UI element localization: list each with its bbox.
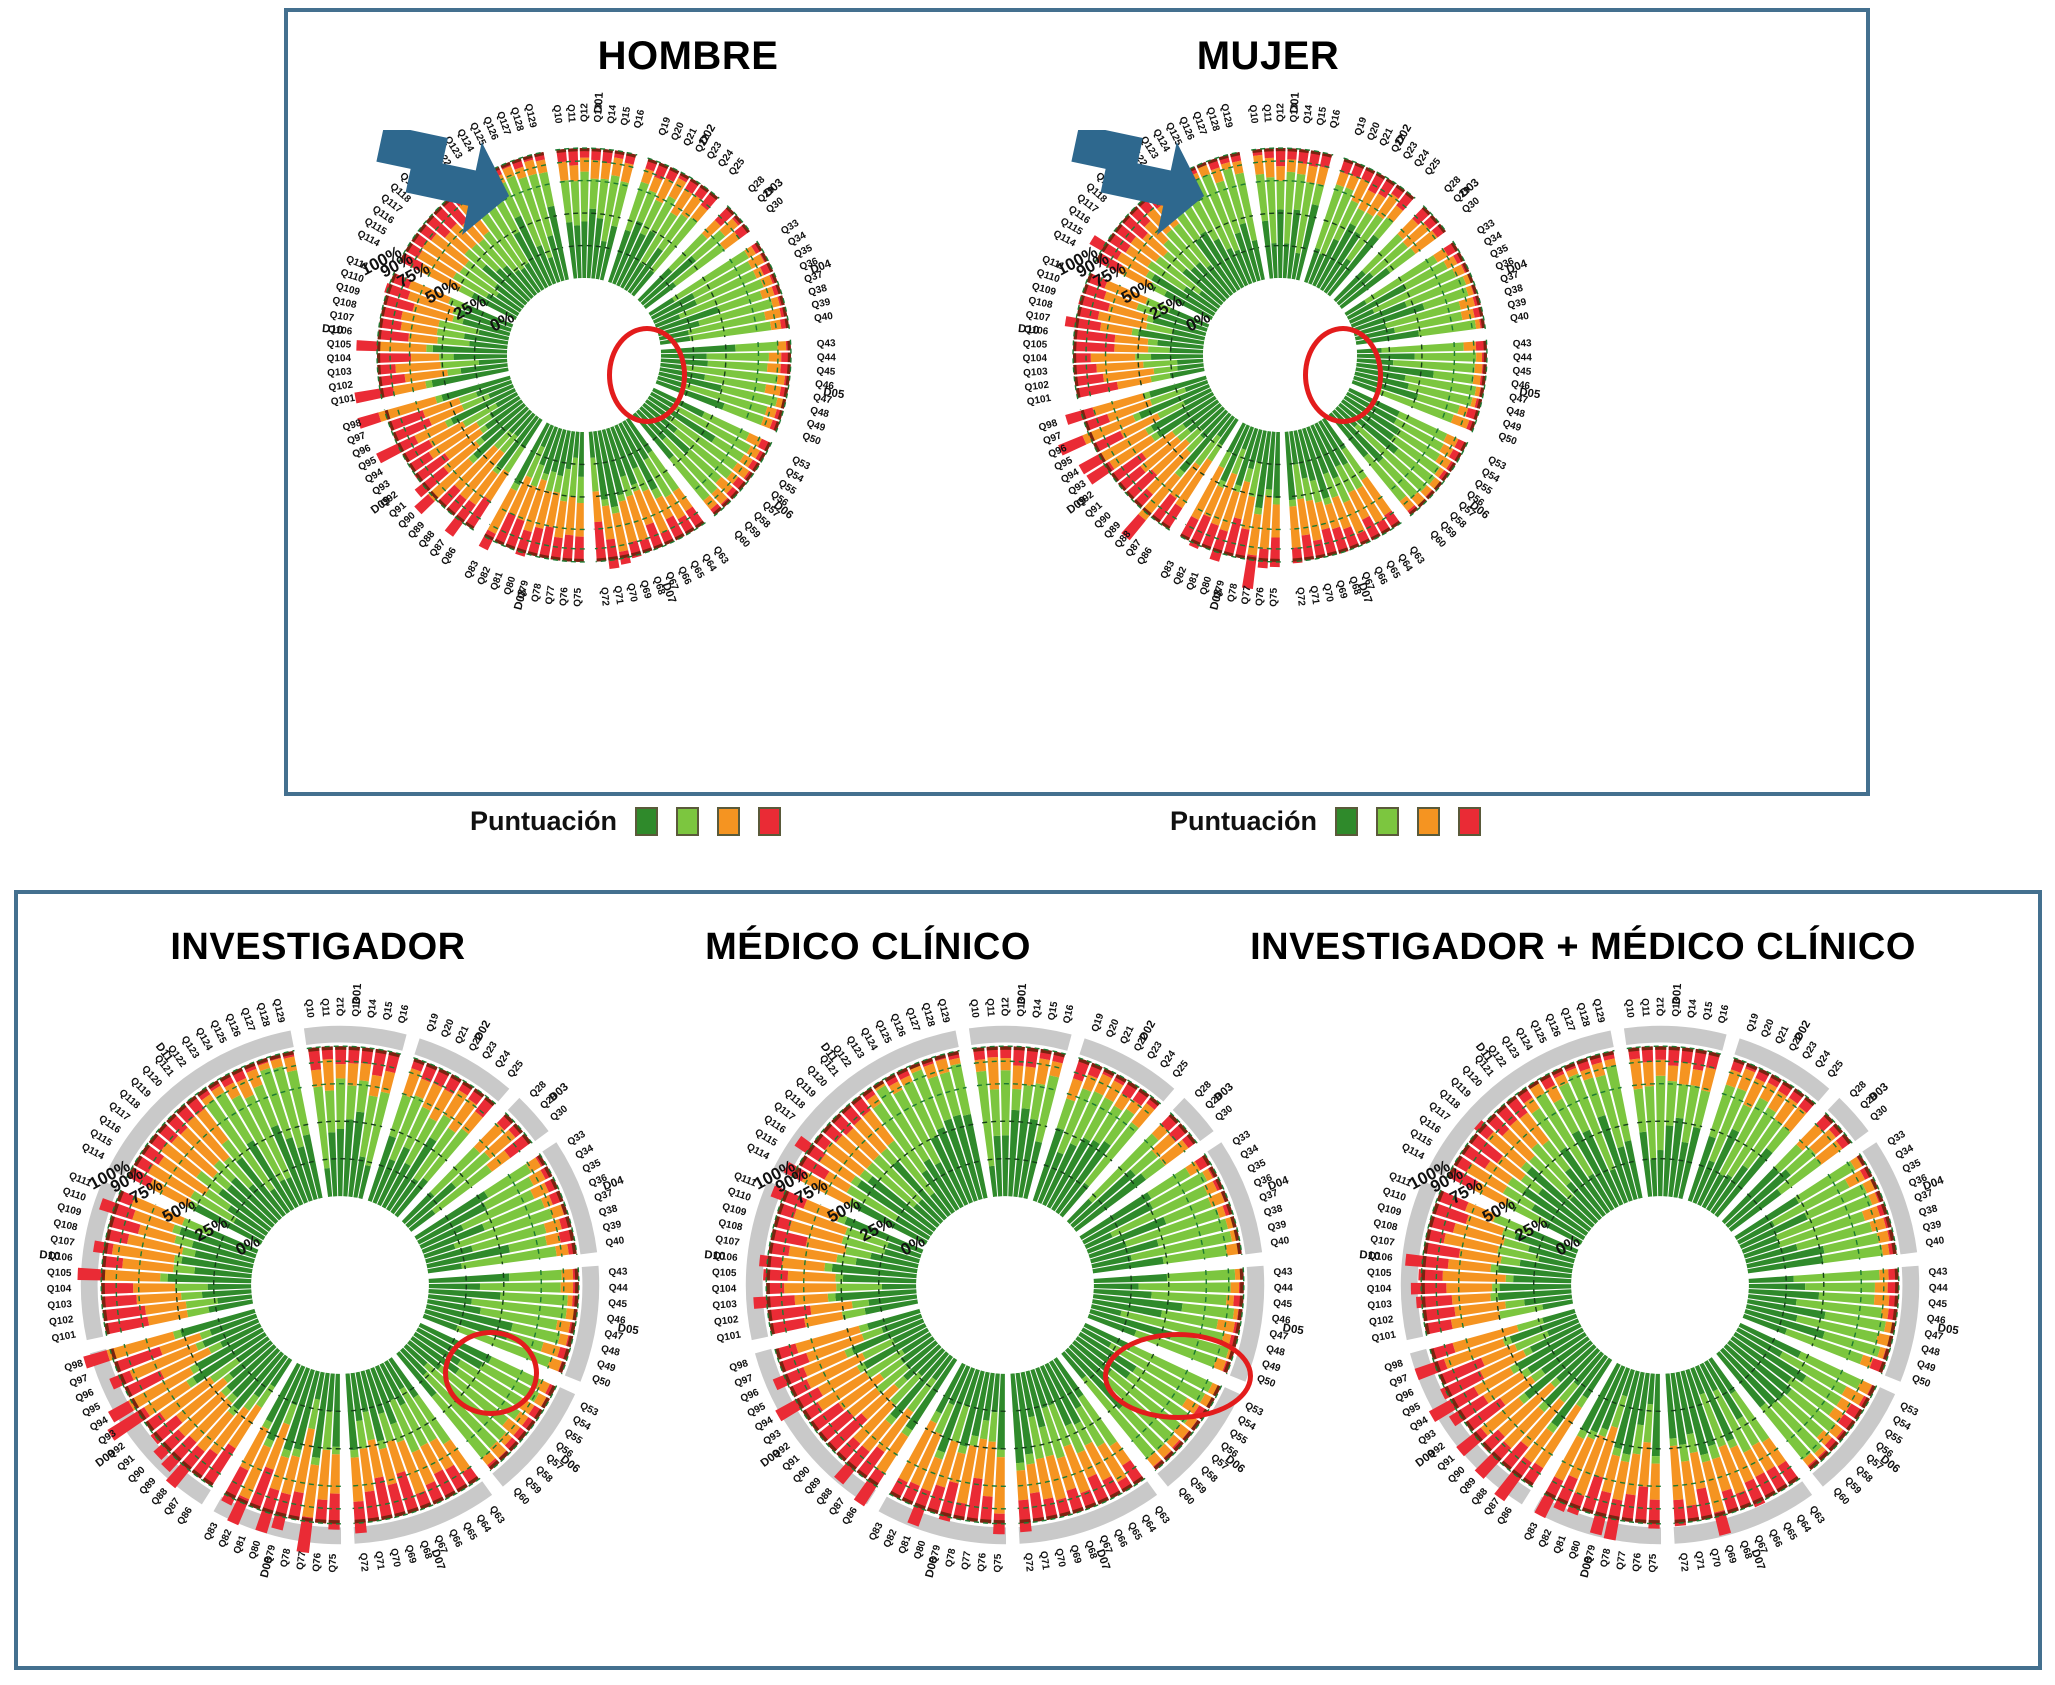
question-label: Q12 — [579, 103, 590, 122]
question-label: Q101 — [716, 1329, 743, 1344]
question-label: Q11 — [1261, 104, 1273, 123]
bar-segment — [560, 180, 572, 223]
question-label: Q40 — [1270, 1235, 1291, 1249]
bar-segment — [1002, 1135, 1009, 1196]
question-label: Q70 — [1321, 582, 1336, 603]
bar-segment — [580, 172, 589, 222]
question-label: Q72 — [1294, 587, 1307, 607]
bar-segment — [479, 530, 496, 551]
question-label: Q103 — [1023, 366, 1049, 379]
bar-segment — [601, 499, 609, 506]
legend-swatch-orange — [717, 807, 740, 836]
chart-center-hole — [251, 1196, 429, 1374]
question-label: Q101 — [1026, 393, 1053, 408]
bar-segment — [824, 1263, 832, 1272]
question-label: Q83 — [202, 1520, 221, 1542]
bar-segment — [377, 341, 426, 352]
chart-title-investigador: INVESTIGADOR — [38, 926, 598, 969]
red-ellipse-annotation-medico — [1103, 1332, 1253, 1420]
bar-segment — [1666, 1081, 1677, 1126]
bar-segment — [536, 159, 548, 173]
question-label: Q16 — [1328, 108, 1343, 129]
bar-segment — [509, 1270, 562, 1282]
chart-title-medico-clinico: MÉDICO CLÍNICO — [598, 926, 1138, 969]
question-label: Q43 — [1273, 1267, 1293, 1279]
question-label: Q72 — [1022, 1552, 1035, 1572]
question-label: Q97 — [1388, 1373, 1410, 1390]
bar-segment — [589, 178, 598, 209]
bar-segment — [735, 342, 778, 352]
question-label: Q39 — [1922, 1219, 1943, 1234]
bar-segment — [769, 353, 781, 362]
question-label: Q81 — [897, 1534, 914, 1556]
bar-segment — [1805, 1282, 1875, 1292]
bar-segment — [346, 1085, 357, 1119]
question-label: Q81 — [1552, 1534, 1569, 1556]
bar-segment — [353, 1501, 367, 1534]
bar-segment — [842, 1308, 866, 1319]
question-label: Q102 — [1024, 380, 1050, 394]
question-label: Q38 — [1263, 1203, 1285, 1219]
question-label: Q49 — [595, 1358, 617, 1374]
question-label: Q103 — [712, 1299, 738, 1312]
domain-label: D10 — [1017, 323, 1039, 337]
bar-segment — [311, 1457, 320, 1466]
bar-segment — [101, 1295, 137, 1308]
question-label: Q16 — [1061, 1003, 1076, 1024]
bar-segment — [1656, 1076, 1666, 1150]
question-label: Q69 — [1068, 1544, 1084, 1565]
bar-segment — [1265, 489, 1272, 496]
bar-segment — [1148, 339, 1158, 346]
question-label: Q76 — [558, 586, 571, 606]
chart-center-hole — [916, 1196, 1094, 1374]
question-label: Q50 — [1910, 1373, 1932, 1390]
question-label: Q11 — [1639, 998, 1651, 1017]
question-label: Q12 — [1275, 103, 1286, 122]
legend-swatch-dark-green — [1335, 807, 1358, 836]
circular-chart-investigador-medico[interactable]: Q10Q11Q12Q13Q14Q15Q16D01Q19Q20Q21Q22Q23Q… — [1360, 985, 1960, 1585]
bar-segment — [794, 1294, 828, 1305]
bar-segment — [1634, 1088, 1647, 1132]
question-label: Q110 — [1381, 1186, 1408, 1204]
question-label: Q77 — [544, 585, 558, 606]
bar-segment — [356, 340, 377, 351]
question-label: Q103 — [1367, 1299, 1393, 1312]
question-label: Q105 — [1367, 1267, 1392, 1279]
question-label: Q108 — [331, 295, 358, 311]
bar-segment — [425, 380, 433, 388]
bar-segment — [1621, 1453, 1631, 1462]
question-label: Q104 — [47, 1284, 72, 1295]
domain-label: D06 — [558, 1453, 582, 1475]
bar-segment — [1024, 1067, 1036, 1087]
question-label: Q35 — [1246, 1157, 1268, 1175]
bar-segment — [1875, 1282, 1888, 1293]
question-label: Q71 — [611, 585, 625, 606]
bar-segment — [175, 1284, 208, 1292]
circular-plot: Q10Q11Q12Q13Q14Q15Q16D01Q19Q20Q21Q22Q23Q… — [705, 985, 1305, 1585]
question-label: Q98 — [1383, 1358, 1405, 1374]
domain-label: D10 — [704, 1249, 726, 1263]
bar-segment — [330, 1454, 340, 1494]
question-label: Q86 — [1495, 1505, 1515, 1527]
question-label: Q39 — [1507, 297, 1528, 312]
question-label: Q75 — [572, 587, 583, 607]
question-label: Q70 — [625, 582, 640, 603]
question-label: Q43 — [1928, 1267, 1948, 1279]
bar-segment — [1651, 1456, 1659, 1464]
question-label: Q50 — [1497, 431, 1519, 448]
question-label: Q75 — [1648, 1553, 1659, 1573]
bar-segment — [788, 1271, 836, 1282]
question-label: Q77 — [960, 1550, 974, 1571]
bar-segment — [1148, 346, 1170, 353]
domain-label: D02 — [1137, 1019, 1158, 1043]
bar-segment — [325, 1090, 335, 1132]
domain-label: D01 — [1671, 982, 1684, 1004]
bar-segment — [408, 333, 438, 343]
bar-segment — [544, 1219, 562, 1233]
question-label: Q86 — [840, 1505, 860, 1527]
domain-label: D02 — [1792, 1019, 1813, 1043]
question-label: Q14 — [1686, 998, 1699, 1018]
circular-chart-investigador[interactable]: Q10Q11Q12Q13Q14Q15Q16D01Q19Q20Q21Q22Q23Q… — [40, 985, 640, 1585]
bar-segment — [104, 1270, 161, 1282]
bar-segment — [1022, 1085, 1033, 1109]
question-label: Q75 — [1268, 587, 1279, 607]
question-label: Q78 — [1226, 582, 1241, 603]
question-label: Q12 — [335, 997, 346, 1016]
question-label: Q40 — [1509, 311, 1530, 325]
question-label: Q110 — [61, 1186, 88, 1204]
question-label: Q14 — [1031, 998, 1044, 1018]
question-label: Q128 — [254, 1001, 271, 1028]
legend-swatch-red — [1458, 807, 1481, 836]
question-label: Q49 — [1260, 1358, 1282, 1374]
question-label: Q69 — [1334, 579, 1350, 600]
bar-segment — [1151, 354, 1203, 360]
bar-segment — [1273, 498, 1280, 505]
bar-segment — [347, 1063, 358, 1086]
bar-segment — [101, 1283, 133, 1294]
question-label: Q14 — [366, 998, 379, 1018]
bar-segment — [1701, 1067, 1716, 1092]
question-label: Q44 — [1274, 1283, 1293, 1294]
question-label: Q16 — [396, 1003, 411, 1024]
question-label: Q101 — [1371, 1329, 1398, 1344]
question-label: Q44 — [609, 1283, 628, 1294]
bar-segment — [429, 1273, 510, 1283]
bar-segment — [1276, 181, 1284, 210]
bar-segment — [1505, 1299, 1525, 1308]
bar-segment — [1018, 1499, 1031, 1532]
question-label: Q69 — [638, 579, 654, 600]
domain-label: D08 — [1579, 1555, 1596, 1579]
question-label: Q129 — [935, 998, 951, 1025]
question-label: Q40 — [813, 311, 834, 325]
bar-segment — [1708, 1444, 1720, 1459]
question-label: Q38 — [807, 283, 829, 299]
question-label: Q48 — [1920, 1344, 1941, 1359]
bar-segment — [1655, 1060, 1665, 1076]
bar-segment — [591, 160, 601, 179]
question-label: Q35 — [1901, 1157, 1923, 1175]
question-label: Q44 — [1929, 1283, 1948, 1294]
legend-swatch-orange — [1417, 807, 1440, 836]
question-label: Q102 — [48, 1314, 74, 1328]
question-label: Q45 — [1273, 1298, 1293, 1310]
question-label: Q34 — [1239, 1143, 1261, 1162]
question-label: Q97 — [733, 1373, 755, 1390]
bar-segment — [411, 354, 439, 362]
question-label: Q44 — [1513, 352, 1532, 363]
bar-segment — [439, 354, 454, 361]
question-label: Q82 — [882, 1527, 900, 1549]
question-label: Q70 — [388, 1547, 403, 1568]
bar-segment — [989, 1166, 997, 1197]
legend-swatch-red — [758, 807, 781, 836]
bar-segment — [1277, 210, 1284, 279]
domain-label: D10 — [1359, 1249, 1381, 1263]
bar-segment — [1411, 1283, 1447, 1295]
question-label: Q50 — [590, 1373, 612, 1390]
bar-segment — [1297, 163, 1307, 175]
bar-segment — [1167, 1269, 1235, 1281]
bar-segment — [1306, 166, 1317, 184]
legend-swatch-light-green — [1376, 807, 1399, 836]
domain-label: D01 — [351, 982, 364, 1004]
bar-segment — [580, 158, 589, 172]
question-label: Q10 — [302, 998, 315, 1018]
chart-center-hole — [1571, 1196, 1749, 1374]
question-label: Q80 — [912, 1539, 928, 1561]
question-label: Q129 — [1590, 998, 1606, 1025]
question-label: Q107 — [49, 1234, 75, 1249]
question-label: Q11 — [319, 998, 331, 1017]
circular-chart-medico-clinico[interactable]: Q10Q11Q12Q13Q14Q15Q16D01Q19Q20Q21Q22Q23Q… — [705, 985, 1305, 1585]
question-label: Q48 — [1265, 1344, 1286, 1359]
question-label: Q72 — [598, 587, 611, 607]
question-label: Q96 — [739, 1387, 761, 1405]
bar-segment — [777, 341, 786, 351]
blue-arrow-annotation-hombre — [368, 130, 518, 250]
bar-segment — [182, 1247, 196, 1257]
bar-segment — [777, 375, 785, 385]
bar-segment — [1415, 353, 1476, 362]
question-label: Q97 — [68, 1373, 90, 1390]
bar-segment — [852, 1299, 869, 1308]
question-label: Q82 — [1537, 1527, 1555, 1549]
bar-segment — [1049, 1061, 1062, 1078]
bar-segment — [975, 1059, 987, 1072]
question-label: Q72 — [357, 1552, 370, 1572]
bar-segment — [1459, 297, 1476, 310]
bar-segment — [882, 1284, 916, 1290]
question-label: Q105 — [47, 1267, 72, 1279]
question-label: Q107 — [1369, 1234, 1395, 1249]
question-label: Q12 — [1000, 997, 1011, 1016]
bar-segment — [1336, 172, 1349, 187]
domain-label: D06 — [1223, 1453, 1247, 1475]
question-label: Q78 — [944, 1547, 959, 1568]
question-label: Q69 — [1723, 1544, 1739, 1565]
chart-title-investigador-medico: INVESTIGADOR + MÉDICO CLÍNICO — [1138, 926, 2028, 969]
bar-segment — [323, 1059, 334, 1091]
bar-segment — [354, 386, 394, 403]
question-label: Q38 — [1503, 283, 1525, 299]
question-label: Q71 — [1037, 1550, 1051, 1571]
bar-segment — [1446, 1283, 1492, 1293]
bar-segment — [577, 477, 584, 503]
bar-segment — [1669, 1438, 1677, 1446]
question-label: Q11 — [565, 104, 577, 123]
bar-segment — [1000, 1058, 1011, 1070]
bar-segment — [936, 1058, 950, 1074]
bar-segment — [1506, 1275, 1514, 1282]
legend-puntuacion-hombre: Puntuación — [470, 806, 781, 837]
question-label: Q128 — [1574, 1001, 1591, 1028]
question-label: Q103 — [327, 366, 353, 379]
question-label: Q83 — [1522, 1520, 1541, 1542]
question-label: Q70 — [1053, 1547, 1068, 1568]
question-label: Q107 — [1025, 310, 1051, 325]
domain-label: D08 — [924, 1555, 941, 1579]
bar-segment — [621, 163, 634, 183]
bar-segment — [1001, 1070, 1011, 1135]
question-label: Q45 — [816, 366, 836, 378]
bar-segment — [594, 521, 606, 561]
question-label: Q103 — [47, 1299, 73, 1312]
bar-segment — [1016, 1463, 1025, 1471]
question-label: Q101 — [51, 1329, 78, 1344]
bar-segment — [753, 1295, 795, 1309]
bar-segment — [828, 1293, 836, 1302]
question-label: Q102 — [328, 380, 354, 394]
question-label: Q34 — [1894, 1143, 1916, 1162]
bar-segment — [1025, 1453, 1035, 1464]
question-label: Q10 — [967, 998, 980, 1018]
question-label: Q15 — [619, 106, 633, 127]
domain-label: D08 — [259, 1555, 276, 1579]
question-label: Q10 — [1246, 104, 1259, 124]
question-label: Q80 — [247, 1539, 263, 1561]
legend-swatch-light-green — [676, 807, 699, 836]
bar-segment — [1794, 1270, 1880, 1282]
bar-segment — [989, 1412, 998, 1442]
question-label: Q109 — [1376, 1201, 1403, 1218]
bar-segment — [1132, 328, 1139, 336]
bar-segment — [1073, 341, 1114, 351]
bar-segment — [1650, 1464, 1660, 1500]
question-label: Q19 — [1090, 1012, 1107, 1034]
question-label: Q107 — [329, 310, 355, 325]
question-label: Q38 — [1918, 1203, 1940, 1219]
bar-segment — [1473, 375, 1481, 385]
bar-segment — [1870, 1218, 1887, 1232]
bar-segment — [1253, 155, 1264, 175]
bar-segment — [1749, 1276, 1794, 1283]
question-label: Q78 — [530, 582, 545, 603]
question-label: Q50 — [801, 431, 823, 448]
domain-label: D06 — [1878, 1453, 1902, 1475]
bar-segment — [1657, 1150, 1663, 1196]
question-label: Q48 — [600, 1344, 621, 1359]
bar-segment — [332, 1447, 340, 1455]
question-label: Q76 — [1631, 1552, 1644, 1572]
bar-segment — [337, 1129, 344, 1196]
question-label: Q43 — [608, 1267, 628, 1279]
bar-segment — [707, 353, 769, 362]
question-label: Q76 — [976, 1552, 989, 1572]
question-label: Q108 — [717, 1218, 744, 1234]
red-ellipse-annotation-investigador — [443, 1330, 539, 1416]
question-label: Q102 — [713, 1314, 739, 1328]
domain-label: D01 — [1016, 982, 1029, 1004]
question-label: Q86 — [175, 1505, 195, 1527]
question-label: Q16 — [632, 108, 647, 129]
question-label: Q107 — [714, 1234, 740, 1249]
bar-segment — [377, 353, 411, 363]
bar-segment — [601, 162, 611, 179]
circular-plot: Q10Q11Q12Q13Q14Q15Q16D01Q19Q20Q21Q22Q23Q… — [1360, 985, 1960, 1585]
question-label: Q108 — [52, 1218, 79, 1234]
question-label: Q71 — [1307, 585, 1321, 606]
question-label: Q105 — [327, 339, 352, 351]
bar-segment — [784, 1283, 836, 1293]
question-label: Q15 — [1315, 106, 1329, 127]
question-label: Q98 — [728, 1358, 750, 1374]
question-label: Q71 — [1692, 1550, 1706, 1571]
question-label: Q40 — [1925, 1235, 1946, 1249]
figure-root: HOMBRE MUJER INVESTIGADOR MÉDICO CLÍNICO… — [0, 0, 2055, 1685]
question-label: Q110 — [726, 1186, 753, 1204]
question-label: Q77 — [1240, 585, 1254, 606]
bar-segment — [1452, 1293, 1491, 1305]
bar-segment — [381, 1071, 395, 1094]
question-label: Q16 — [1716, 1003, 1731, 1024]
question-label: Q83 — [867, 1520, 886, 1542]
red-ellipse-annotation-hombre — [607, 326, 687, 424]
bar-segment — [969, 1435, 978, 1446]
bar-segment — [324, 1168, 332, 1197]
question-label: Q11 — [984, 998, 996, 1017]
question-label: Q15 — [1046, 1000, 1060, 1021]
question-label: Q20 — [439, 1017, 457, 1039]
question-label: Q10 — [1622, 998, 1635, 1018]
question-label: Q98 — [63, 1358, 85, 1374]
bar-segment — [336, 1064, 346, 1078]
question-label: Q80 — [1567, 1539, 1583, 1561]
question-label: Q76 — [1254, 586, 1267, 606]
question-label: Q38 — [598, 1203, 620, 1219]
question-label: Q72 — [1677, 1552, 1690, 1572]
legend-puntuacion-mujer: Puntuación — [1170, 806, 1481, 837]
question-label: Q45 — [1512, 366, 1532, 378]
question-label: Q14 — [606, 104, 619, 124]
red-ellipse-annotation-mujer — [1303, 326, 1383, 424]
blue-arrow-annotation-mujer — [1063, 130, 1213, 250]
bar-segment — [1074, 374, 1104, 387]
bar-segment — [1461, 309, 1475, 320]
bar-segment — [1474, 364, 1482, 374]
question-label: Q20 — [1759, 1017, 1777, 1039]
question-label: Q15 — [381, 1000, 395, 1021]
bar-segment — [1381, 342, 1463, 352]
bar-segment — [1225, 1243, 1238, 1255]
question-label: Q50 — [1255, 1373, 1277, 1390]
bar-segment — [480, 1282, 561, 1292]
